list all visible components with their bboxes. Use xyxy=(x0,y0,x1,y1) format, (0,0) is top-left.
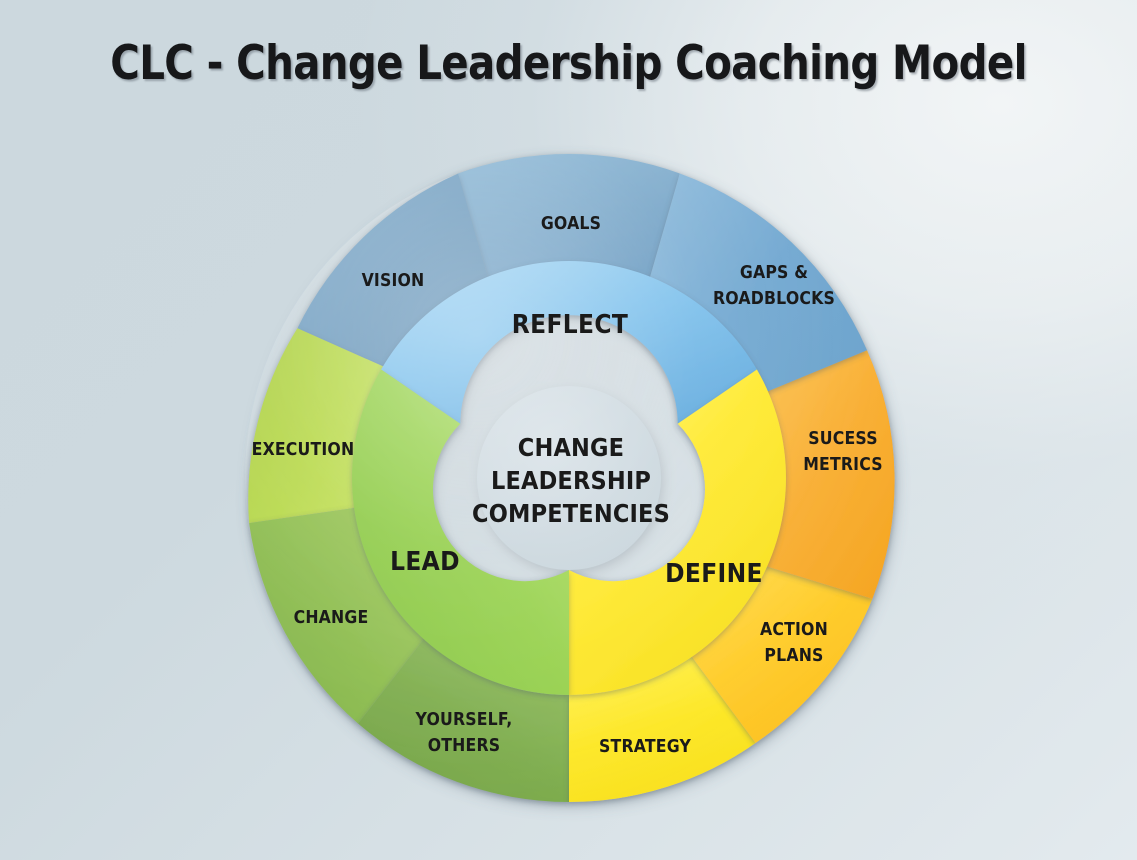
outer-label-sucess-metrics-line1: SUCESS xyxy=(808,428,877,448)
clc-cycle-diagram: GOALS GAPS & ROADBLOCKS SUCESS METRICS A… xyxy=(0,0,1137,860)
inner-label-define: DEFINE xyxy=(665,558,763,588)
outer-label-yourself-others-line2: OTHERS xyxy=(428,735,501,755)
outer-label-change: CHANGE xyxy=(294,607,369,627)
outer-label-sucess-metrics-line2: METRICS xyxy=(803,454,883,474)
outer-label-vision: VISION xyxy=(362,270,425,290)
outer-label-action-plans-line1: ACTION xyxy=(760,619,828,639)
outer-label-execution: EXECUTION xyxy=(252,439,355,459)
center-label-line3: COMPETENCIES xyxy=(472,499,670,528)
outer-label-goals: GOALS xyxy=(541,213,601,233)
outer-label-gaps-roadblocks-line1: GAPS & xyxy=(740,262,808,282)
inner-label-reflect: REFLECT xyxy=(512,309,628,339)
outer-label-strategy: STRATEGY xyxy=(599,736,692,756)
center-label-line1: CHANGE xyxy=(518,433,624,462)
center-label-line2: LEADERSHIP xyxy=(491,466,651,495)
outer-label-yourself-others-line1: YOURSELF, xyxy=(415,709,513,729)
outer-label-gaps-roadblocks-line2: ROADBLOCKS xyxy=(713,288,835,308)
outer-label-action-plans-line2: PLANS xyxy=(764,645,823,665)
inner-label-lead: LEAD xyxy=(390,546,460,576)
diagram-canvas: CLC - Change Leadership Coaching Model xyxy=(0,0,1137,860)
